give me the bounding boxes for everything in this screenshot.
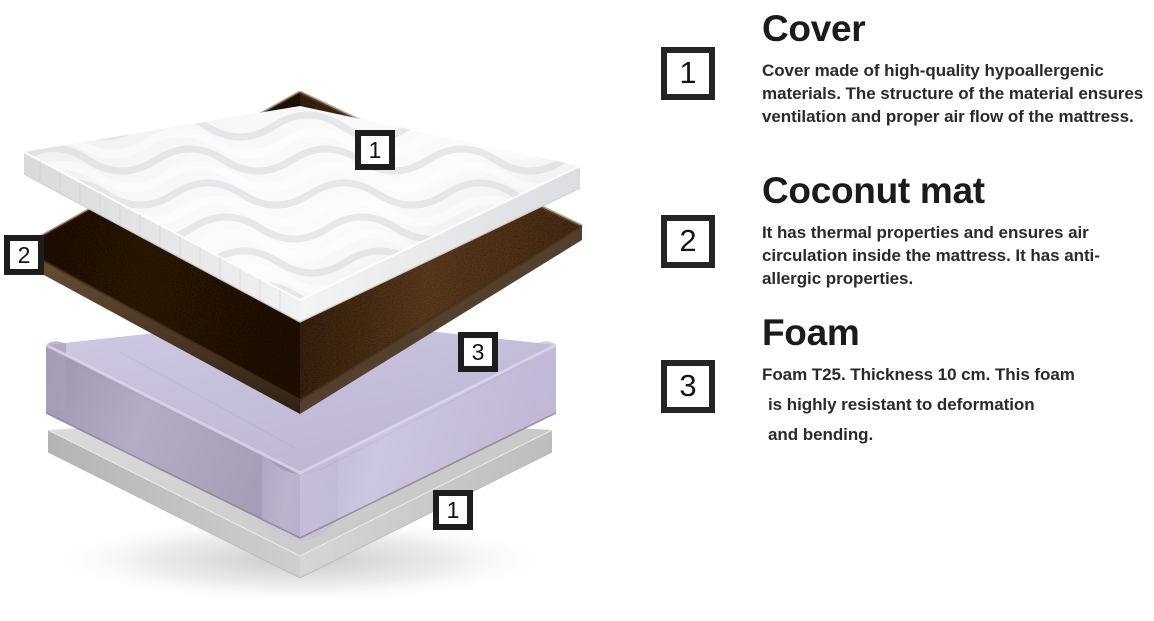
base-cover-badge[interactable]: 1 (433, 490, 473, 530)
legend-badge-1[interactable]: 1 (661, 47, 715, 100)
legend-text-2: Coconut mat It has thermal properties an… (762, 170, 1154, 290)
legend-body-coconut-mat: It has thermal properties and ensures ai… (762, 221, 1154, 290)
legend-body-foam: Foam T25. Thickness 10 cm. This foam is … (762, 360, 1154, 450)
mattress-svg (0, 0, 625, 621)
legend-badge-3[interactable]: 3 (661, 360, 715, 413)
legend-badge-2[interactable]: 2 (661, 215, 715, 268)
cover-layer-badge[interactable]: 1 (355, 130, 395, 170)
coconut-layer-badge[interactable]: 2 (4, 235, 44, 275)
legend-body-foam-line3: and bending. (762, 420, 1154, 450)
mattress-layers-infographic: 1 2 3 1 1 Cover Cover made of high-quali… (0, 0, 1154, 621)
legend-body-cover: Cover made of high-quality hypoallergeni… (762, 59, 1154, 128)
legend-text-3: Foam Foam T25. Thickness 10 cm. This foa… (762, 312, 1154, 450)
legend-text-1: Cover Cover made of high-quality hypoall… (762, 8, 1154, 128)
legend-title-cover: Cover (762, 8, 1154, 50)
legend-body-foam-line2: is highly resistant to deformation (762, 390, 1154, 420)
foam-layer-badge[interactable]: 3 (458, 332, 498, 372)
exploded-mattress-illustration: 1 2 3 1 (0, 0, 625, 621)
legend-body-foam-line1: Foam T25. Thickness 10 cm. This foam (762, 360, 1154, 390)
legend-title-foam: Foam (762, 312, 1154, 354)
legend-title-coconut-mat: Coconut mat (762, 170, 1154, 212)
legend-panel: 1 Cover Cover made of high-quality hypoa… (655, 0, 1154, 621)
